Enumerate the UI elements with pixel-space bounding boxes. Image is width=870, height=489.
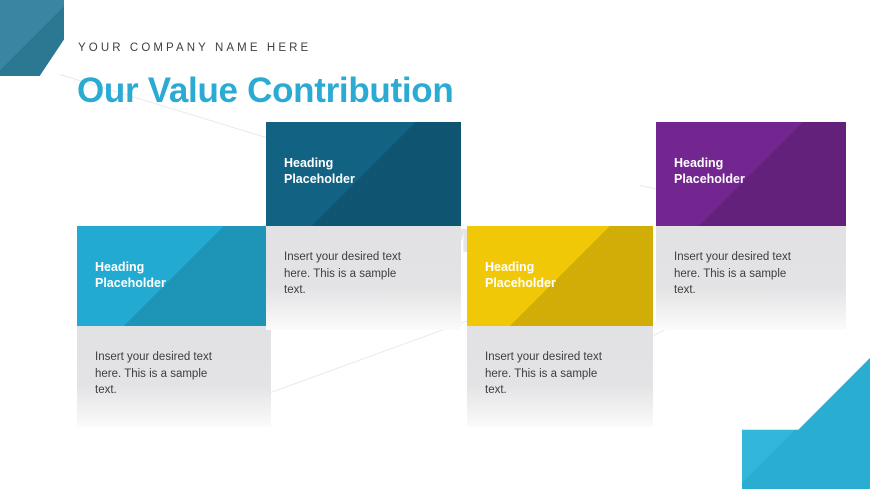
value-card-2-body: Insert your desired text here. This is a…: [266, 226, 461, 330]
slide-canvas: YOUR COMPANY NAME HERE Our Value Contrib…: [0, 0, 870, 489]
corner-decoration-top-left-shade: [0, 0, 64, 76]
value-card-1-body: Insert your desired text here. This is a…: [77, 326, 271, 427]
value-card-2-header[interactable]: Heading Placeholder: [266, 122, 461, 226]
value-card-2[interactable]: Heading Placeholder Insert your desired …: [266, 122, 461, 330]
heading-line-2: Placeholder: [674, 171, 745, 187]
value-card-4-header[interactable]: Heading Placeholder: [656, 122, 846, 226]
value-card-4-body-text: Insert your desired text here. This is a…: [674, 249, 799, 299]
heading-line-2: Placeholder: [284, 171, 355, 187]
corner-decoration-bottom-right-shade: [742, 348, 870, 489]
value-card-3-body: Insert your desired text here. This is a…: [467, 326, 653, 427]
value-card-2-heading: Heading Placeholder: [284, 155, 355, 187]
value-card-3-heading: Heading Placeholder: [485, 259, 556, 291]
company-name-eyebrow: YOUR COMPANY NAME HERE: [78, 42, 311, 54]
value-card-3-body-text: Insert your desired text here. This is a…: [485, 349, 610, 399]
value-card-1-heading: Heading Placeholder: [95, 259, 166, 291]
value-card-3[interactable]: Heading Placeholder Insert your desired …: [467, 226, 653, 427]
heading-line-1: Heading: [674, 155, 745, 171]
heading-line-1: Heading: [284, 155, 355, 171]
heading-line-2: Placeholder: [95, 275, 166, 291]
page-title: Our Value Contribution: [77, 71, 453, 111]
heading-line-2: Placeholder: [485, 275, 556, 291]
value-card-1-header[interactable]: Heading Placeholder: [77, 226, 271, 326]
value-card-4-body: Insert your desired text here. This is a…: [656, 226, 846, 330]
value-card-4[interactable]: Heading Placeholder Insert your desired …: [656, 122, 846, 330]
value-card-3-header[interactable]: Heading Placeholder: [467, 226, 653, 326]
value-card-1-body-text: Insert your desired text here. This is a…: [95, 349, 220, 399]
value-card-2-body-text: Insert your desired text here. This is a…: [284, 249, 409, 299]
heading-line-1: Heading: [95, 259, 166, 275]
heading-line-1: Heading: [485, 259, 556, 275]
value-card-1[interactable]: Heading Placeholder Insert your desired …: [77, 226, 271, 427]
value-card-4-heading: Heading Placeholder: [674, 155, 745, 187]
